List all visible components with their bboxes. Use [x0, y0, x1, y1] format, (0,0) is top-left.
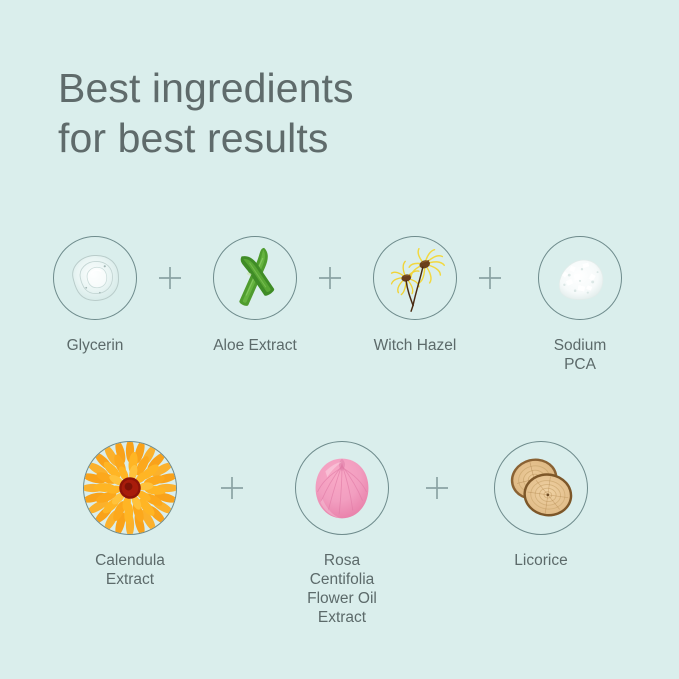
ingredient-rosa-centifolia: Rosa Centifolia Flower Oil Extract	[295, 441, 389, 627]
licorice-circle	[494, 441, 588, 535]
aloe-circle	[213, 236, 297, 320]
plus-separator	[317, 265, 343, 291]
ingredient-calendula-extract: Calendula Extract	[83, 441, 177, 589]
licorice-root-slices-icon	[495, 441, 587, 535]
rose-petal-circle	[295, 441, 389, 535]
plus-separator	[219, 475, 245, 501]
ingredient-label: Aloe Extract	[213, 336, 297, 355]
ingredients-infographic: Best ingredients for best results	[0, 0, 679, 679]
ingredient-aloe-extract: Aloe Extract	[213, 236, 297, 355]
witch-hazel-flower-icon	[374, 236, 456, 320]
ingredient-glycerin: Glycerin	[53, 236, 137, 355]
sodium-pca-circle	[538, 236, 622, 320]
sodium-pca-powder-icon	[539, 236, 621, 320]
witch-hazel-circle	[373, 236, 457, 320]
plus-separator	[157, 265, 183, 291]
ingredient-sodium-pca: Sodium PCA	[538, 236, 622, 374]
ingredient-label: Sodium PCA	[538, 336, 622, 374]
plus-separator	[477, 265, 503, 291]
page-title: Best ingredients for best results	[58, 63, 354, 163]
ingredient-label: Rosa Centifolia Flower Oil Extract	[295, 551, 389, 627]
aloe-leaves-icon	[214, 236, 296, 320]
rose-petal-icon	[296, 441, 388, 535]
glycerin-gel-icon	[54, 236, 136, 320]
ingredient-label: Glycerin	[67, 336, 124, 355]
ingredient-label: Witch Hazel	[374, 336, 457, 355]
plus-separator	[424, 475, 450, 501]
calendula-flower-icon	[84, 441, 176, 535]
ingredient-label: Licorice	[514, 551, 567, 570]
ingredient-label: Calendula Extract	[83, 551, 177, 589]
calendula-circle	[83, 441, 177, 535]
ingredient-licorice: Licorice	[494, 441, 588, 570]
glycerin-circle	[53, 236, 137, 320]
ingredient-witch-hazel: Witch Hazel	[373, 236, 457, 355]
